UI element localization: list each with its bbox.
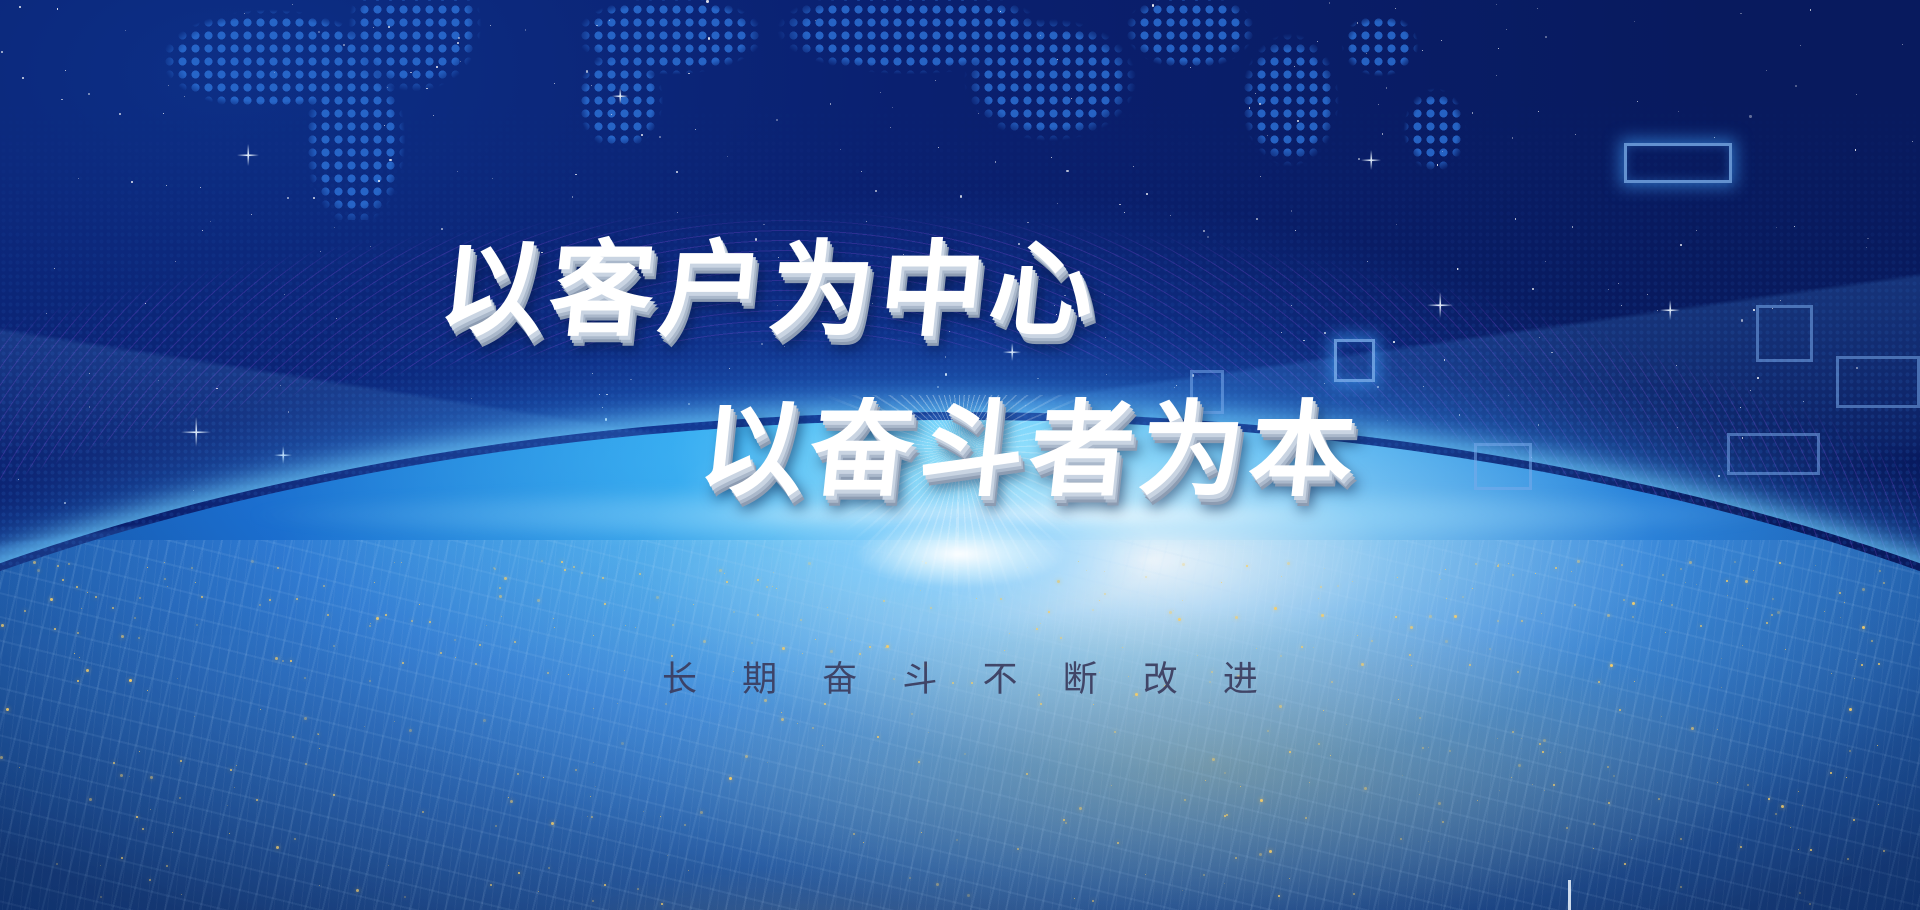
poster-canvas: 以客户为中心 以奋斗者为本 长 期 奋 斗 不 断 改 进: [0, 0, 1920, 910]
headline-line-1: 以客户为中心: [435, 238, 1106, 342]
subtitle-text: 长 期 奋 斗 不 断 改 进: [0, 651, 1920, 702]
headline-line-2: 以奋斗者为本: [695, 398, 1366, 502]
bottom-tick-mark: [1568, 880, 1571, 910]
title-block: 以客户为中心 以奋斗者为本 长 期 奋 斗 不 断 改 进: [0, 0, 1920, 910]
